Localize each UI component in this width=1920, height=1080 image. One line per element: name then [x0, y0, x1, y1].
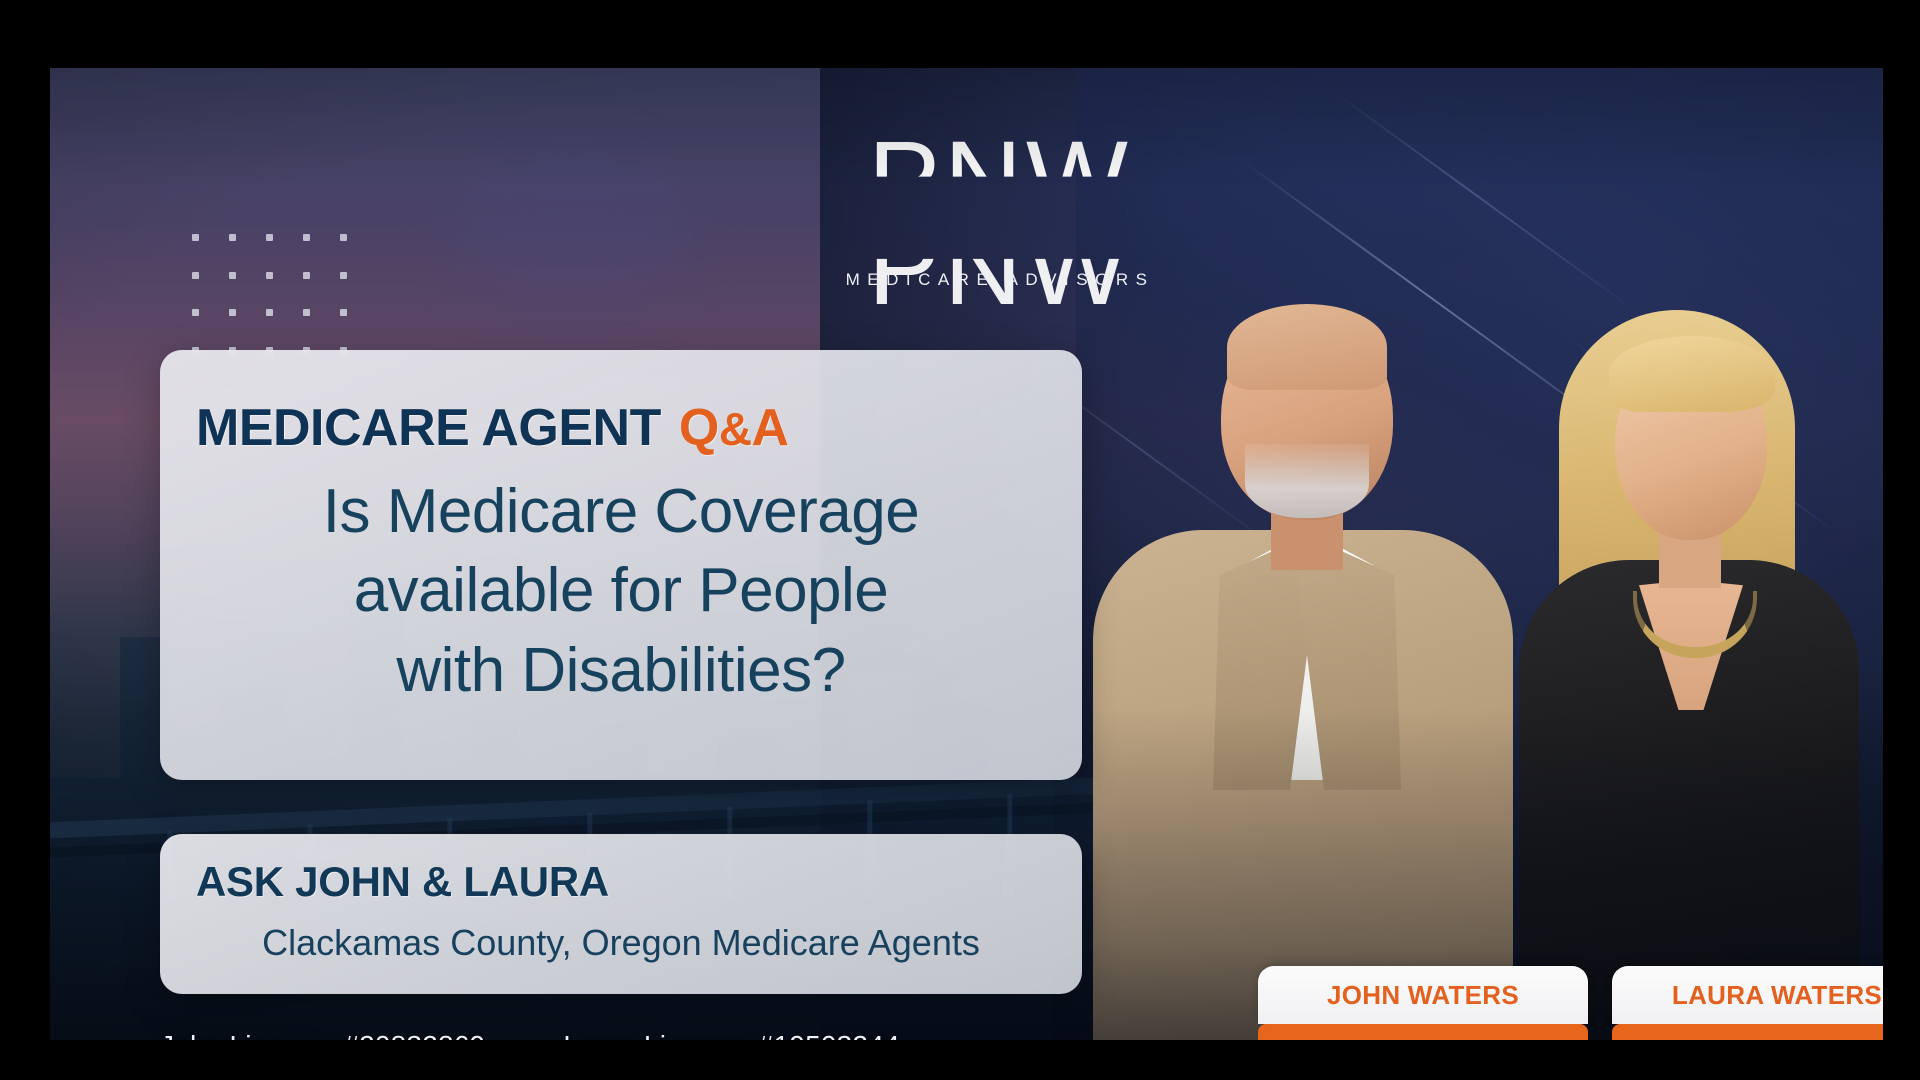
laura-waters-portrait — [1463, 250, 1883, 1040]
logo-wordmark-top: PNW — [750, 130, 1250, 227]
logo-wordmark-bottom: PNW — [750, 218, 1250, 315]
ask-card-title: ASK JOHN & LAURA — [196, 858, 609, 906]
contact-name-laura: LAURA WATERS — [1612, 966, 1883, 1024]
brand-logo: PNW PNW MEDICARE ADVISORS — [750, 130, 1250, 310]
ask-card-subtitle: Clackamas County, Oregon Medicare Agents — [160, 922, 1082, 964]
question-text: Is Medicare Coverage available for Peopl… — [180, 472, 1062, 710]
contact-phone-john[interactable]: 503-929-4621 — [1258, 1024, 1588, 1040]
ask-agents-card: ASK JOHN & LAURA Clackamas County, Orego… — [160, 834, 1082, 994]
logo-tagline: MEDICARE ADVISORS — [750, 270, 1250, 290]
kicker-a: A — [752, 399, 789, 457]
question-line-3: with Disabilities? — [180, 631, 1062, 710]
slide-artboard: PNW PNW MEDICARE ADVISORS MEDICARE AGENT… — [50, 68, 1883, 1040]
kicker-q: Q — [679, 399, 719, 457]
laura-license-text: Laura License: #19503244 — [563, 1030, 899, 1040]
contact-phone-number-laura: 503-577-8710 — [1703, 1039, 1883, 1040]
contact-card-john[interactable]: JOHN WATERS 503-929-4621 — [1258, 966, 1588, 1040]
kicker-ampersand: & — [719, 403, 752, 455]
contact-name-john: JOHN WATERS — [1258, 966, 1588, 1024]
contact-phone-number-john: 503-929-4621 — [1349, 1039, 1541, 1040]
license-numbers: John License: #20832869 Laura License: #… — [160, 1030, 1140, 1040]
video-letterbox-frame: PNW PNW MEDICARE ADVISORS MEDICARE AGENT… — [0, 0, 1920, 1080]
contact-phone-laura[interactable]: 503-577-8710 — [1612, 1024, 1883, 1040]
john-license-text: John License: #20832869 — [160, 1030, 485, 1040]
question-line-2: available for People — [180, 551, 1062, 630]
contact-card-laura[interactable]: LAURA WATERS 503-577-8710 — [1612, 966, 1883, 1040]
question-card: MEDICARE AGENTQ&A Is Medicare Coverage a… — [160, 350, 1082, 780]
agents-photo — [1053, 210, 1883, 1040]
kicker-qa: Q&A — [679, 399, 789, 457]
question-line-1: Is Medicare Coverage — [180, 472, 1062, 551]
kicker-main-text: MEDICARE AGENT — [196, 399, 661, 457]
john-waters-portrait — [1093, 240, 1513, 1040]
question-kicker: MEDICARE AGENTQ&A — [196, 398, 789, 458]
sky-bokeh-blob — [453, 146, 693, 326]
